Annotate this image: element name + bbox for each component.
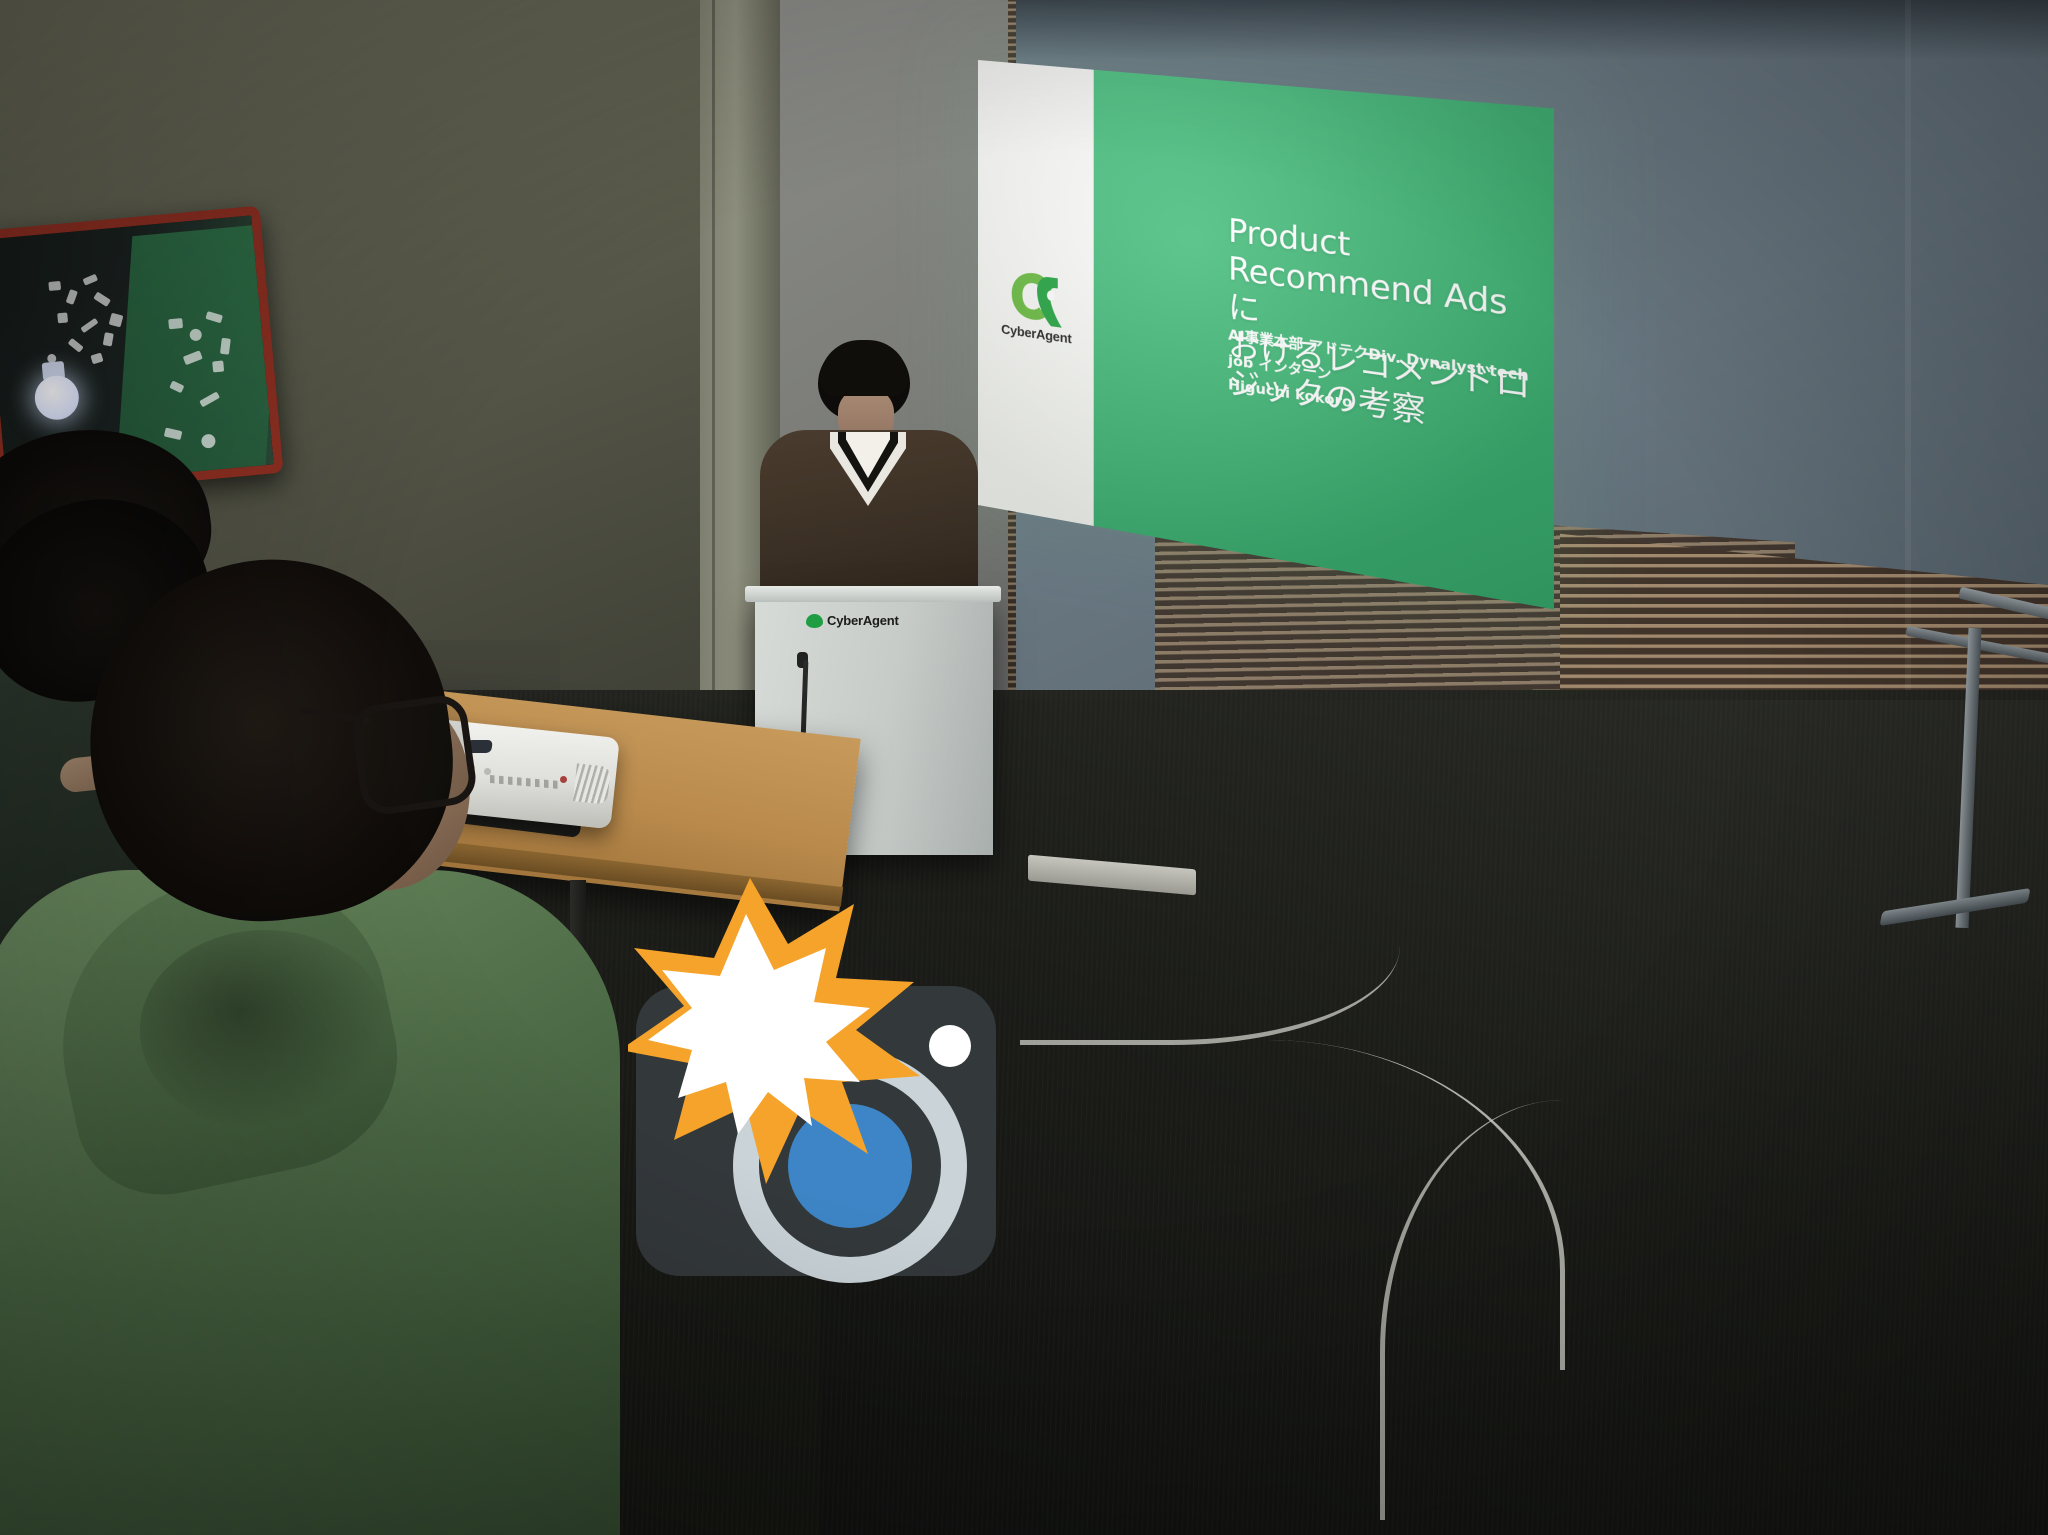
- hoodie-shadow: [140, 930, 390, 1130]
- display-doodle: [93, 292, 111, 307]
- display-doodle: [212, 361, 224, 373]
- pillar-seam: [712, 0, 715, 760]
- display-doodle: [90, 353, 103, 365]
- slide-brand-panel: CyberAgent: [978, 60, 1094, 526]
- projector-indicator-light: [560, 776, 567, 783]
- display-doodle: [57, 312, 68, 323]
- camera-with-flash-icon: [628, 878, 1048, 1298]
- display-bulb-glow: [33, 374, 81, 422]
- projector-vent: [573, 763, 611, 804]
- podium-brand-lockup: CyberAgent: [806, 613, 899, 628]
- display-doodle: [82, 274, 98, 286]
- display-doodle: [220, 338, 231, 355]
- display-doodle: [48, 281, 61, 291]
- display-doodle: [68, 338, 84, 353]
- glasses-lens: [349, 692, 479, 817]
- slide-green-panel: Product Recommend Adsに おけるレコメンドロジックの考察 A…: [1094, 70, 1554, 610]
- podium-brand-name: CyberAgent: [827, 613, 899, 628]
- display-doodle: [168, 318, 183, 329]
- display-doodle: [109, 313, 124, 328]
- podium-top-surface: [745, 586, 1001, 602]
- display-doodle: [103, 332, 114, 346]
- presentation-room-photo: タップしてスタート CyberAgent Product Recommend A…: [0, 0, 2048, 1535]
- cyberagent-ca-logo-icon: [806, 614, 823, 628]
- display-doodle: [66, 289, 78, 305]
- ceiling-shadow: [1000, 0, 2048, 60]
- display-doodle: [80, 318, 98, 333]
